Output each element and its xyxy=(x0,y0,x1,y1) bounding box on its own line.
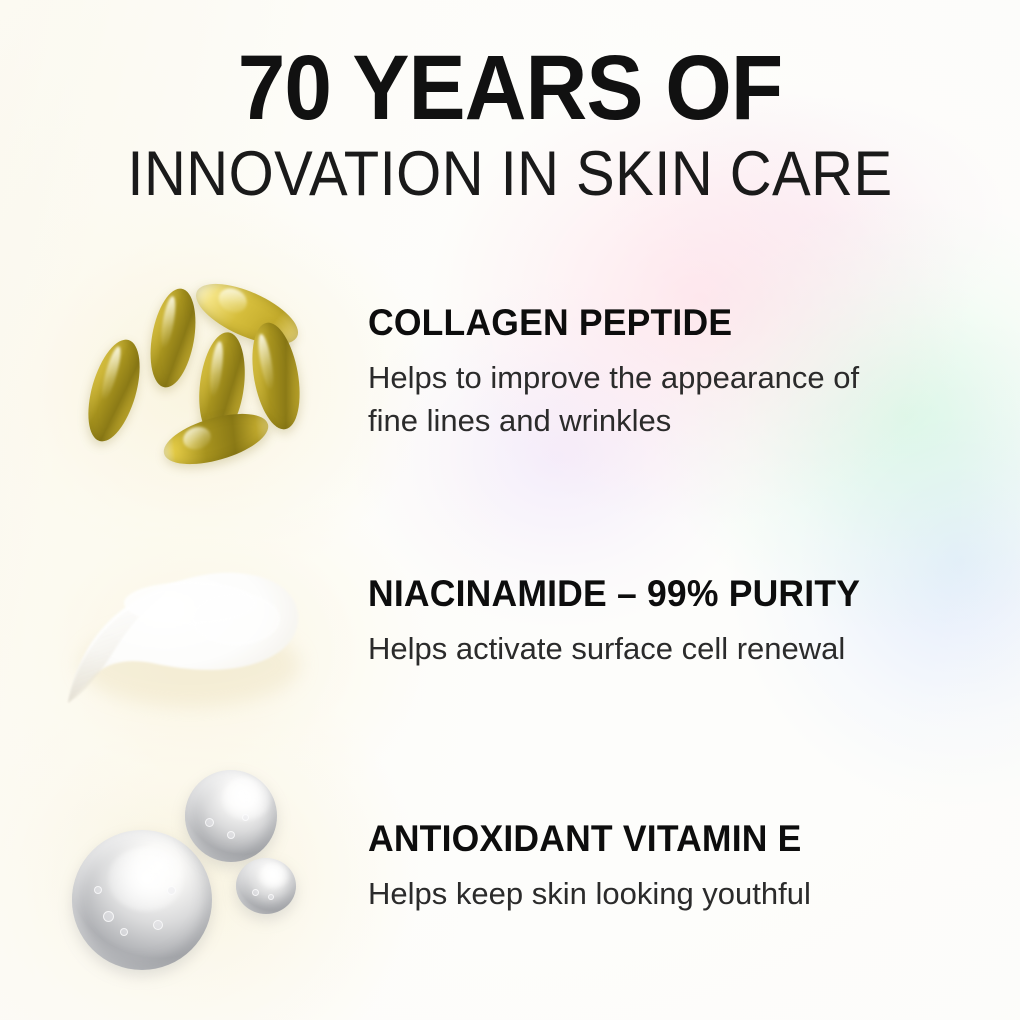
ingredient-description-antioxidant-vitamin-e: Helps keep skin looking youthful xyxy=(368,872,908,915)
ingredient-row-antioxidant-vitamin-e: ANTIOXIDANT VITAMIN E Helps keep skin lo… xyxy=(0,760,1020,990)
skincare-ingredient-poster: 70 YEARS OF INNOVATION IN SKIN CARE COLL… xyxy=(0,0,1020,1020)
niacinamide-text: NIACINAMIDE – 99% PURITY Helps activate … xyxy=(368,573,988,670)
collagen-peptide-text: COLLAGEN PEPTIDE Helps to improve the ap… xyxy=(368,302,988,442)
ingredient-row-collagen-peptide: COLLAGEN PEPTIDE Helps to improve the ap… xyxy=(0,270,1020,500)
headline-primary: 70 YEARS OF xyxy=(36,40,985,136)
headline-block: 70 YEARS OF INNOVATION IN SKIN CARE xyxy=(0,40,1020,208)
antioxidant-vitamin-e-visual xyxy=(40,760,350,990)
ingredient-name-antioxidant-vitamin-e: ANTIOXIDANT VITAMIN E xyxy=(368,818,963,860)
gold-softgel-capsules-icon xyxy=(40,270,350,500)
ingredient-name-collagen-peptide: COLLAGEN PEPTIDE xyxy=(368,302,963,344)
white-cream-swatch-icon xyxy=(40,545,350,745)
headline-secondary: INNOVATION IN SKIN CARE xyxy=(41,140,979,208)
ingredient-description-niacinamide: Helps activate surface cell renewal xyxy=(368,627,908,670)
niacinamide-visual xyxy=(40,545,350,745)
ingredient-description-collagen-peptide: Helps to improve the appearance of fine … xyxy=(368,356,908,442)
ingredient-row-niacinamide: NIACINAMIDE – 99% PURITY Helps activate … xyxy=(0,545,1020,745)
ingredient-name-niacinamide: NIACINAMIDE – 99% PURITY xyxy=(368,573,963,615)
antioxidant-vitamin-e-text: ANTIOXIDANT VITAMIN E Helps keep skin lo… xyxy=(368,818,988,915)
collagen-peptide-visual xyxy=(40,270,350,500)
clear-gel-droplets-icon xyxy=(40,760,350,990)
